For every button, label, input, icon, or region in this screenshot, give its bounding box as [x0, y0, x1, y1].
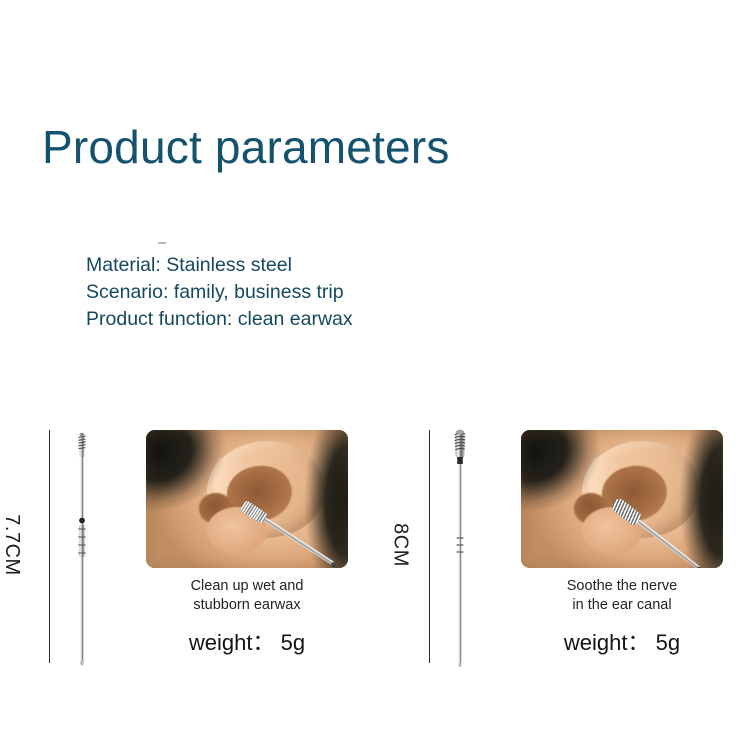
spec-list: Material: Stainless steel Scenario: fami…: [86, 252, 353, 333]
ear-pick-illustration-right: [440, 427, 480, 667]
dimension-rule: [429, 430, 430, 663]
spec-material: Material: Stainless steel: [86, 252, 353, 279]
ear-photo-right: [521, 430, 723, 568]
spec-function: Product function: clean earwax: [86, 306, 353, 333]
caption-line-2: in the ear canal: [521, 596, 723, 615]
ear-pick-illustration-left: [62, 427, 102, 667]
page-title: Product parameters: [42, 122, 450, 173]
product-caption-left: Clean up wet and stubborn earwax: [146, 577, 348, 615]
product-caption-right: Soothe the nerve in the ear canal: [521, 577, 723, 615]
caption-line-2: stubborn earwax: [146, 596, 348, 615]
ear-photo-image: [146, 430, 348, 568]
dimension-label: 7.7CM: [0, 514, 23, 575]
caption-line-1: Clean up wet and: [146, 577, 348, 596]
dimension-rule: [49, 430, 50, 663]
product-weight-left: weight： 5g: [142, 625, 352, 657]
dimension-marker-right: 8CM: [390, 425, 436, 665]
photo-vignette: [146, 430, 348, 568]
ear-photo-left: [146, 430, 348, 568]
photo-vignette: [521, 430, 723, 568]
ear-photo-image: [521, 430, 723, 568]
product-block-left: 7.7CM: [0, 425, 375, 675]
product-weight-right: weight： 5g: [517, 625, 727, 657]
product-block-right: 8CM: [380, 425, 750, 675]
caption-line-1: Soothe the nerve: [521, 577, 723, 596]
stray-mark: [158, 242, 166, 244]
dimension-label: 8CM: [389, 523, 412, 567]
dimension-marker-left: 7.7CM: [10, 425, 56, 665]
spec-scenario: Scenario: family, business trip: [86, 279, 353, 306]
